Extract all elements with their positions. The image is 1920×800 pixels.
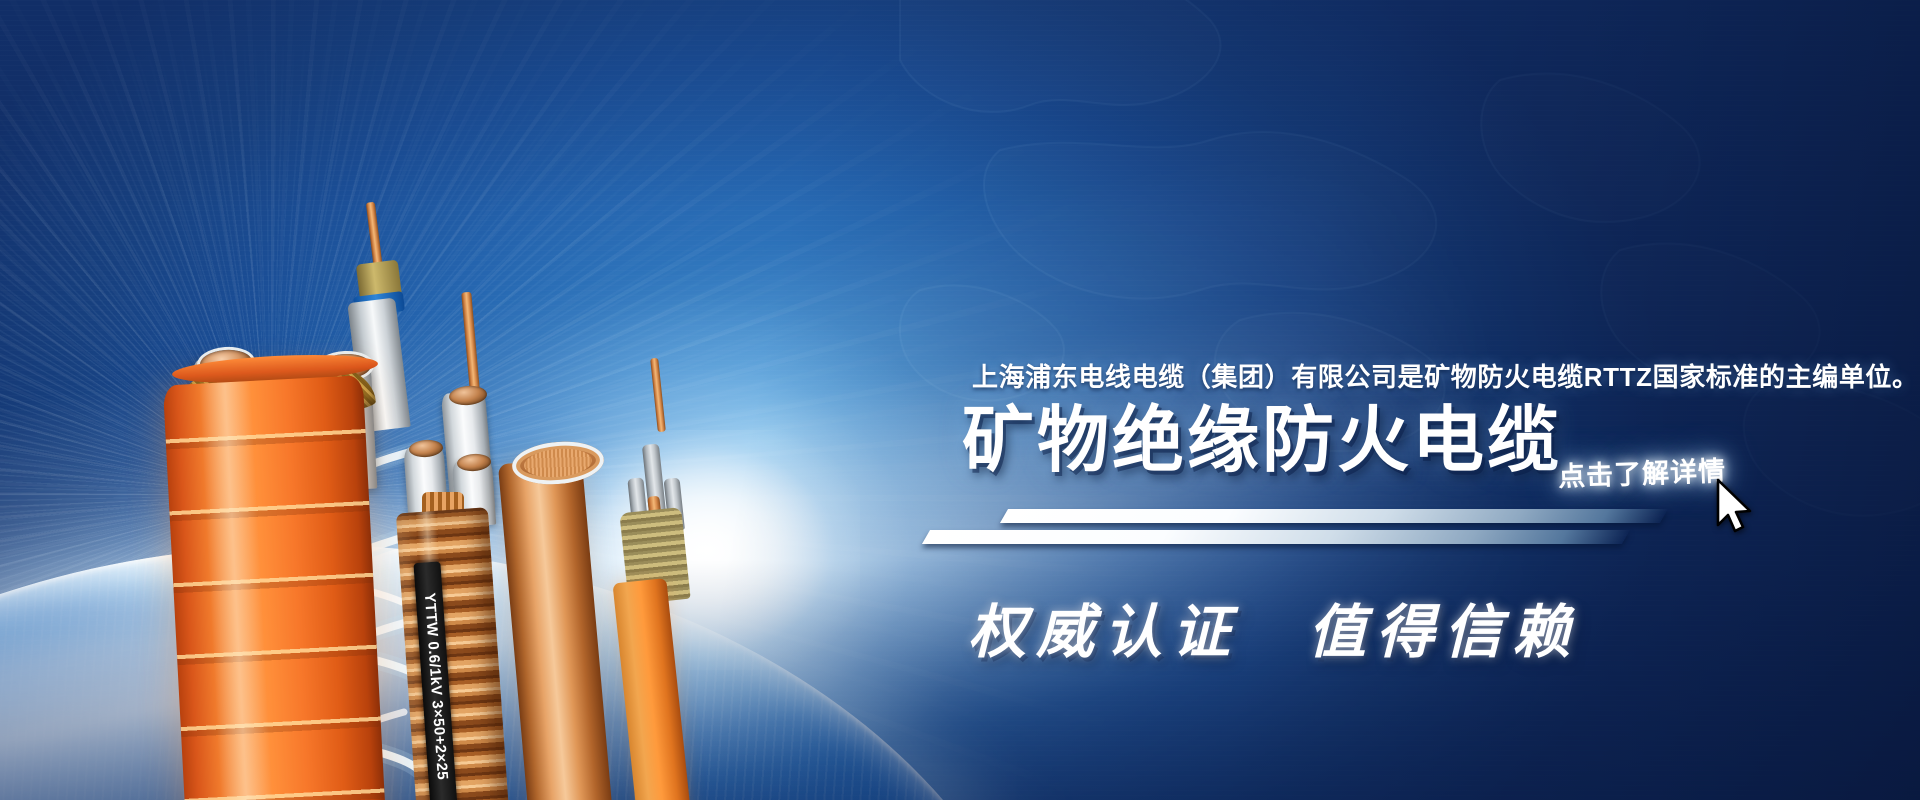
banner-headline: 矿物绝缘防火电缆 <box>962 405 1562 477</box>
decorative-bar-upper <box>1000 509 1668 523</box>
cta-learn-more-button[interactable]: 点击了解详情 <box>1557 449 1726 494</box>
banner-tagline: 上海浦东电线电缆（集团）有限公司是矿物防火电缆RTTZ国家标准的主编单位。 <box>972 357 1919 394</box>
banner-text-content: 上海浦东电线电缆（集团）有限公司是矿物防火电缆RTTZ国家标准的主编单位。 矿物… <box>0 0 1920 800</box>
decorative-bars <box>886 505 1746 565</box>
decorative-bar-lower <box>922 530 1630 544</box>
banner-slogan: 权威认证 值得信赖 <box>968 585 1580 669</box>
promo-banner: YTTW 0.6/1kV 3×50+2×25 上海浦东电线电缆（集团）有限公司是… <box>0 0 1920 800</box>
